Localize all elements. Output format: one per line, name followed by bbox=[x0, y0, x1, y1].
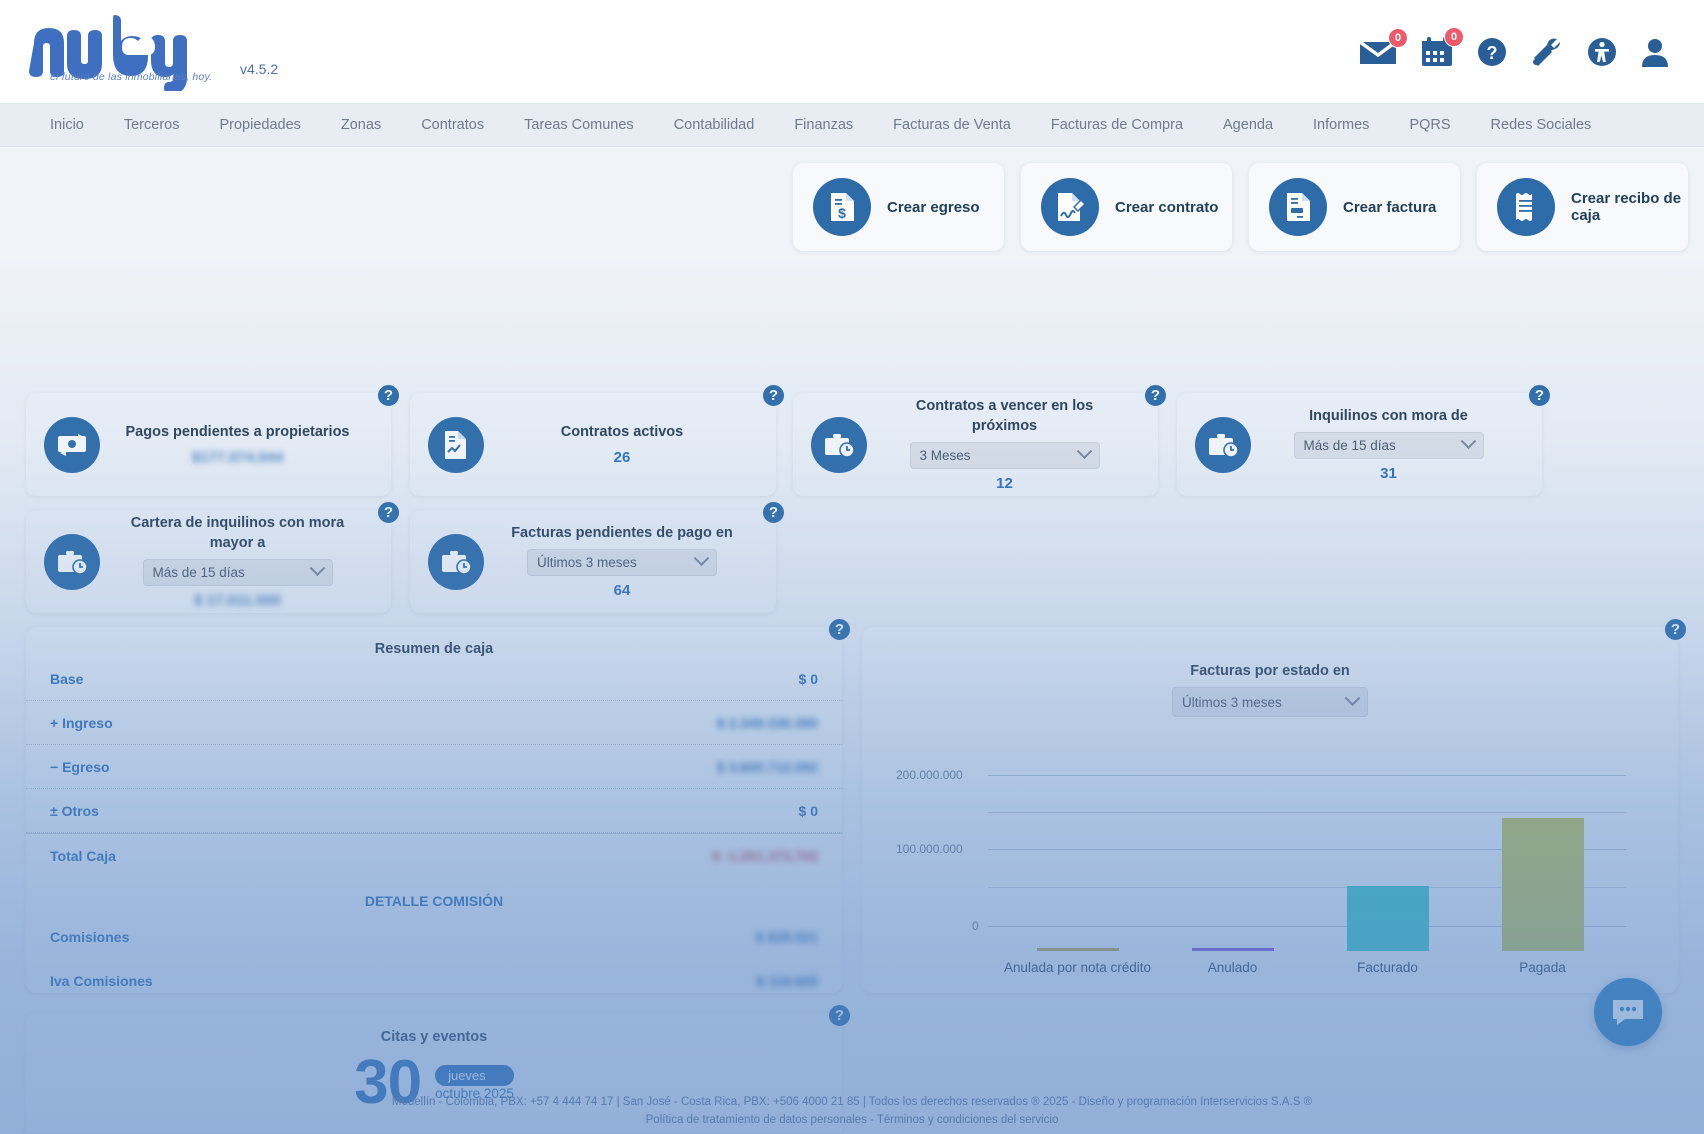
nav-item-contratos[interactable]: Contratos bbox=[401, 104, 504, 147]
kpi-inquilinos-help-icon[interactable]: ? bbox=[1527, 383, 1552, 408]
nav-item-facturas-de-compra[interactable]: Facturas de Compra bbox=[1031, 104, 1203, 147]
nav-item-inicio[interactable]: Inicio bbox=[30, 104, 104, 147]
crear-egreso-button[interactable]: $ Crear egreso bbox=[793, 163, 1004, 251]
footer-line-1: Medellín - Colombia, PBX: +57 4 444 74 1… bbox=[0, 1094, 1704, 1112]
table-row: Iva Comisiones $ 119.605 bbox=[26, 959, 842, 1003]
crear-recibo-de-caja-button[interactable]: Crear recibo de caja bbox=[1477, 163, 1688, 251]
nav-item-zonas[interactable]: Zonas bbox=[321, 104, 401, 147]
kpi-inquilinos-select[interactable]: Más de 15 días bbox=[1294, 432, 1484, 459]
kpi-cartera-select-value: Más de 15 días bbox=[153, 565, 245, 580]
total-caja-row: Total Caja $ -1.251.373.702 bbox=[26, 833, 842, 877]
kpi-facturas-title: Facturas pendientes de pago en bbox=[502, 524, 742, 544]
chat-bubble-icon[interactable] bbox=[1594, 978, 1662, 1046]
nav-item-agenda[interactable]: Agenda bbox=[1203, 104, 1293, 147]
kpi-cartera-mora[interactable]: Cartera de inquilinos con mora mayor a M… bbox=[26, 510, 391, 613]
ytick-200m: 200.000.000 bbox=[896, 768, 963, 782]
kpi-contratos-activos[interactable]: Contratos activos 26 ? bbox=[410, 393, 776, 496]
kpi-inquilinos-body: Inquilinos con mora de Más de 15 días 31 bbox=[1269, 407, 1542, 482]
ytick-100m: 100.000.000 bbox=[896, 842, 963, 856]
mail-badge: 0 bbox=[1388, 28, 1408, 48]
dashboard-body: $ Crear egreso Crear contrato Crear fact… bbox=[0, 147, 1704, 1134]
total-amount: $ -1.251.373.702 bbox=[712, 848, 818, 864]
money-transfer-icon bbox=[44, 417, 100, 473]
kpi-inquilinos-mora[interactable]: Inquilinos con mora de Más de 15 días 31… bbox=[1177, 393, 1542, 496]
contract-signature-icon bbox=[1041, 178, 1099, 236]
chevron-down-icon bbox=[694, 550, 710, 566]
citas-title: Citas y eventos bbox=[26, 1013, 842, 1045]
resumen-help-icon[interactable]: ? bbox=[827, 617, 852, 642]
crear-contrato-button[interactable]: Crear contrato bbox=[1021, 163, 1232, 251]
tools-icon[interactable] bbox=[1530, 36, 1564, 68]
facturas-por-estado-chart-card: ? Facturas por estado en Últimos 3 meses… bbox=[862, 627, 1678, 993]
invoice-dollar-icon: $ bbox=[813, 178, 871, 236]
briefcase-clock-icon bbox=[1195, 417, 1251, 473]
nav-item-propiedades[interactable]: Propiedades bbox=[199, 104, 320, 147]
row-label: Comisiones bbox=[50, 929, 129, 945]
svg-text:$: $ bbox=[838, 205, 846, 221]
table-row: − Egreso $ 3.600.712.092 bbox=[26, 745, 842, 789]
crear-factura-button[interactable]: Crear factura bbox=[1249, 163, 1460, 251]
row-amount: $ 0 bbox=[799, 671, 818, 687]
kpi-vencer-title: Contratos a vencer en los próximos bbox=[885, 397, 1124, 436]
ytick-0: 0 bbox=[972, 919, 979, 933]
kpi-contratos-help-icon[interactable]: ? bbox=[761, 383, 786, 408]
xtick-0: Anulada por nota crédito bbox=[1000, 959, 1155, 977]
row-label: Base bbox=[50, 671, 83, 687]
chart-period-value: Últimos 3 meses bbox=[1182, 695, 1282, 710]
bar-pagada[interactable] bbox=[1502, 818, 1584, 951]
row-label: − Egreso bbox=[50, 759, 110, 775]
dashboard-page: el futuro de las inmobiliarias, hoy. v4.… bbox=[0, 0, 1704, 1134]
chevron-down-icon bbox=[309, 560, 325, 576]
chevron-down-icon bbox=[1460, 433, 1476, 449]
kpi-inquilinos-value: 31 bbox=[1269, 465, 1508, 482]
crear-factura-label: Crear factura bbox=[1343, 199, 1436, 216]
chart-title: Facturas por estado en bbox=[862, 627, 1678, 679]
crear-recibo-label: Crear recibo de caja bbox=[1571, 190, 1688, 224]
svg-text:?: ? bbox=[1487, 43, 1498, 63]
citas-help-icon[interactable]: ? bbox=[827, 1003, 852, 1028]
user-icon[interactable] bbox=[1640, 36, 1670, 68]
xtick-3: Pagada bbox=[1465, 959, 1620, 977]
row-amount: $ 2.349.336.390 bbox=[717, 715, 818, 731]
bar-column[interactable] bbox=[1000, 776, 1155, 951]
nav-item-informes[interactable]: Informes bbox=[1293, 104, 1389, 147]
invoice-icon bbox=[1269, 178, 1327, 236]
nav-item-contabilidad[interactable]: Contabilidad bbox=[654, 104, 775, 147]
kpi-inquilinos-select-value: Más de 15 días bbox=[1304, 438, 1396, 453]
bar-chart: 200.000.000 100.000.000 0 Anulada por no… bbox=[896, 751, 1644, 951]
kpi-contratos-value: 26 bbox=[502, 449, 742, 466]
kpi-contratos-title: Contratos activos bbox=[502, 423, 742, 443]
brand-logo[interactable]: el futuro de las inmobiliarias, hoy. v4.… bbox=[26, 13, 278, 91]
kpi-facturas-select-value: Últimos 3 meses bbox=[537, 555, 637, 570]
table-row: Base $ 0 bbox=[26, 657, 842, 701]
bar-anulada-por-nota-credito[interactable] bbox=[1037, 948, 1119, 951]
chevron-down-icon bbox=[1076, 443, 1092, 459]
kpi-facturas-help-icon[interactable]: ? bbox=[761, 500, 786, 525]
kpi-pagos-pendientes[interactable]: Pagos pendientes a propietarios $177.074… bbox=[26, 393, 391, 496]
bar-column[interactable] bbox=[1155, 776, 1310, 951]
crear-egreso-label: Crear egreso bbox=[887, 199, 980, 216]
bar-anulado[interactable] bbox=[1192, 948, 1274, 951]
kpi-facturas-body: Facturas pendientes de pago en Últimos 3… bbox=[502, 524, 776, 599]
briefcase-clock-icon bbox=[44, 534, 100, 590]
kpi-inquilinos-title: Inquilinos con mora de bbox=[1269, 407, 1508, 427]
xtick-2: Facturado bbox=[1310, 959, 1465, 977]
nav-item-finanzas[interactable]: Finanzas bbox=[774, 104, 873, 147]
x-axis-labels: Anulada por nota crédito Anulado Factura… bbox=[1000, 959, 1620, 977]
header-icon-bar: 0 0 ? bbox=[1358, 36, 1682, 68]
total-label: Total Caja bbox=[50, 848, 116, 864]
logo-wordmark: el futuro de las inmobiliarias, hoy. bbox=[26, 13, 236, 91]
table-row: Comisiones $ 629.521 bbox=[26, 915, 842, 959]
app-version: v4.5.2 bbox=[240, 61, 278, 91]
row-amount: $ 0 bbox=[799, 803, 818, 819]
nav-item-pqrs[interactable]: PQRS bbox=[1389, 104, 1470, 147]
kpi-pagos-value: $177.074.044 bbox=[118, 449, 357, 466]
xtick-1: Anulado bbox=[1155, 959, 1310, 977]
bar-column[interactable] bbox=[1310, 776, 1465, 951]
row-label: + Ingreso bbox=[50, 715, 113, 731]
kpi-cartera-body: Cartera de inquilinos con mora mayor a M… bbox=[118, 514, 391, 608]
brand-tagline: el futuro de las inmobiliarias, hoy. bbox=[50, 71, 212, 83]
nav-item-facturas-de-venta[interactable]: Facturas de Venta bbox=[873, 104, 1031, 147]
table-row: ± Otros $ 0 bbox=[26, 789, 842, 833]
nav-item-redes-sociales[interactable]: Redes Sociales bbox=[1471, 104, 1612, 147]
nav-item-terceros[interactable]: Terceros bbox=[104, 104, 200, 147]
kpi-vencer-help-icon[interactable]: ? bbox=[1143, 383, 1168, 408]
kpi-vencer-select[interactable]: 3 Meses bbox=[910, 442, 1100, 469]
bar-facturado[interactable] bbox=[1347, 886, 1429, 951]
accessibility-icon[interactable] bbox=[1586, 36, 1618, 68]
footer-line-2[interactable]: Política de tratamiento de datos persona… bbox=[0, 1112, 1704, 1130]
kpi-vencer-value: 12 bbox=[885, 475, 1124, 492]
kpi-pagos-title: Pagos pendientes a propietarios bbox=[118, 423, 357, 443]
briefcase-clock-icon bbox=[811, 417, 867, 473]
table-row: + Ingreso $ 2.349.336.390 bbox=[26, 701, 842, 745]
calendar-icon[interactable]: 0 bbox=[1420, 36, 1454, 68]
kpi-facturas-value: 64 bbox=[502, 582, 742, 599]
nav-item-tareas-comunes[interactable]: Tareas Comunes bbox=[504, 104, 654, 147]
help-icon[interactable]: ? bbox=[1476, 36, 1508, 68]
mail-icon[interactable]: 0 bbox=[1358, 37, 1398, 67]
crear-contrato-label: Crear contrato bbox=[1115, 199, 1218, 216]
contract-chart-icon bbox=[428, 417, 484, 473]
briefcase-clock-icon bbox=[428, 534, 484, 590]
kpi-facturas-pendientes[interactable]: Facturas pendientes de pago en Últimos 3… bbox=[410, 510, 776, 613]
resumen-de-caja-panel: ? Resumen de caja Base $ 0 + Ingreso $ 2… bbox=[26, 627, 842, 993]
chart-period-select[interactable]: Últimos 3 meses bbox=[1172, 687, 1368, 717]
quick-actions-row: $ Crear egreso Crear contrato Crear fact… bbox=[793, 163, 1688, 251]
kpi-cartera-title: Cartera de inquilinos con mora mayor a bbox=[118, 514, 357, 553]
kpi-facturas-select[interactable]: Últimos 3 meses bbox=[527, 549, 717, 576]
main-navigation: Inicio Terceros Propiedades Zonas Contra… bbox=[0, 104, 1704, 147]
kpi-vencer-body: Contratos a vencer en los próximos 3 Mes… bbox=[885, 397, 1158, 491]
kpi-pagos-help-icon[interactable]: ? bbox=[376, 383, 401, 408]
kpi-contratos-vencer[interactable]: Contratos a vencer en los próximos 3 Mes… bbox=[793, 393, 1158, 496]
kpi-contratos-body: Contratos activos 26 bbox=[502, 423, 776, 466]
calendar-badge: 0 bbox=[1444, 27, 1464, 47]
bar-series bbox=[1000, 776, 1620, 951]
kpi-cartera-value: $ 17.011.000 bbox=[118, 592, 357, 609]
row-label: Iva Comisiones bbox=[50, 973, 153, 989]
row-amount: $ 629.521 bbox=[756, 929, 818, 945]
detalle-comision-heading: DETALLE COMISIÓN bbox=[26, 877, 842, 915]
kpi-cartera-select[interactable]: Más de 15 días bbox=[143, 559, 333, 586]
row-label: ± Otros bbox=[50, 803, 99, 819]
page-footer: Medellín - Colombia, PBX: +57 4 444 74 1… bbox=[0, 1088, 1704, 1134]
app-header: el futuro de las inmobiliarias, hoy. v4.… bbox=[0, 0, 1704, 104]
kpi-cartera-help-icon[interactable]: ? bbox=[376, 500, 401, 525]
receipt-icon bbox=[1497, 178, 1555, 236]
chevron-down-icon bbox=[1345, 690, 1361, 706]
row-amount: $ 119.605 bbox=[756, 973, 818, 989]
citas-weekday-badge: jueves bbox=[435, 1065, 514, 1086]
bar-column[interactable] bbox=[1465, 776, 1620, 951]
resumen-title: Resumen de caja bbox=[26, 627, 842, 657]
chart-help-icon[interactable]: ? bbox=[1663, 617, 1688, 642]
kpi-pagos-body: Pagos pendientes a propietarios $177.074… bbox=[118, 423, 391, 466]
row-amount: $ 3.600.712.092 bbox=[717, 759, 818, 775]
kpi-vencer-select-value: 3 Meses bbox=[920, 448, 971, 463]
